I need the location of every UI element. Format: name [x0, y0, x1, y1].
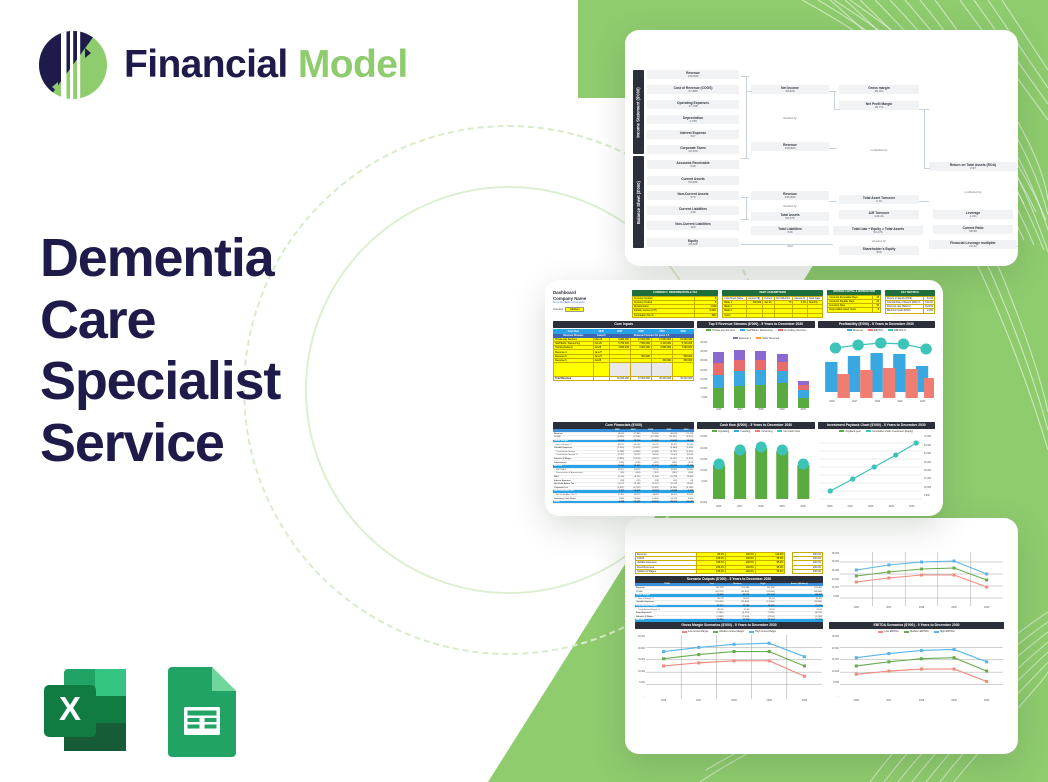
y-axis: 25,000 20,000 15,000 10,000 5,000 - (5,0…: [697, 435, 708, 505]
panel-profitability: Profitability ($'000) - 5 Years to Decem…: [818, 321, 935, 419]
table-of-contents-link[interactable]: Go to the Table of Contents: [553, 301, 628, 304]
dupont-node: Equity49,626: [647, 238, 739, 247]
legend-item: High EBITDA: [934, 630, 955, 633]
dupont-node: Leverage1.0%: [933, 210, 1013, 219]
x-axis-labels: 2026 2027 2028 2029 2030: [820, 505, 922, 513]
dupont-node: Return on Total Assets (ROA)0.97: [929, 162, 1017, 171]
chart-revenue-scenarios: 35,000 30,000 25,000 20,000 15,000 5,000…: [829, 552, 1004, 614]
table-row: Corporation Tax %30%: [632, 313, 717, 317]
table-row: Discount rate (WACC)10.00%: [886, 305, 935, 309]
panel-investment-payback: Investment Payback Chart ($'000) - 5 Yea…: [818, 422, 935, 516]
microsoft-excel-icon[interactable]: X: [38, 663, 132, 757]
chart-cash-flow: 25,000 20,000 15,000 10,000 5,000 - (5,0…: [697, 435, 814, 513]
legend-item: Low Gross Margin: [682, 630, 708, 633]
x-axis-labels: 2026 2027 2028 2029 2030: [646, 699, 822, 707]
y-axis: 35,000 30,000 25,000 20,000 15,000 5,000…: [829, 552, 840, 606]
dupont-operator: divided by: [751, 204, 829, 208]
plot-area: [708, 435, 813, 505]
dupont-spine-income-statement: Income Statement ($'000): [633, 70, 644, 154]
legend-item: Financing: [755, 430, 772, 433]
scenario-outputs-table: $'000 Low Medium High Active (Medium) Re…: [635, 583, 823, 627]
dupont-node: Gross margin65.0%: [839, 85, 919, 94]
panel-title-core-financials: Core Financials ($'000): [553, 422, 694, 429]
legend-item: Cumulative Cash Investment (Equity): [866, 430, 913, 433]
scenario-label: Scenario: [553, 308, 563, 311]
currency-assumptions-table[interactable]: Currency Symbol$ Currency Ordinal$ Denom…: [632, 296, 718, 318]
dupont-node: Depreciation1,765: [647, 115, 739, 124]
panel-revenue-streams: Top 5 Revenue Streams ($'000) - 5 Years …: [697, 321, 814, 419]
dupont-operator: multiplied by: [839, 148, 919, 152]
legend-item: Medium EBITDA: [904, 630, 929, 633]
dupont-node: Accounts Receivable948: [647, 160, 739, 169]
dupont-node: Financial Leverage multiplier62.22: [929, 240, 1017, 249]
plot-area: [708, 342, 813, 408]
dupont-node: Shareholder's Equity800: [839, 246, 919, 255]
screenshot-scenario-dashboard[interactable]: Revenue 80.0% 100.0% 120.0% 100.0% COGS …: [625, 518, 1018, 754]
brand-logo[interactable]: Financial Model: [36, 28, 408, 102]
dupont-operator: divided by: [751, 116, 829, 120]
panel-cash-flow: Cash flow ($'000) - 5 Years to December …: [697, 422, 814, 516]
dupont-node: Total Assets50,576: [751, 212, 829, 221]
legend-item: High Gross Margin: [749, 630, 776, 633]
dupont-operator: Add: [751, 244, 829, 248]
y-axis: 35,000 30,000 25,000 20,000 15,000 10,00…: [697, 342, 708, 408]
financial-model-circle-bars-logo: [36, 28, 110, 102]
dupont-node: Total Liabilities549: [751, 226, 829, 235]
dupont-tree-diagram: Income Statement ($'000) Balance Sheet (…: [633, 68, 1012, 248]
dupont-node: Revenue136,800: [647, 70, 739, 79]
panel-core-inputs: Core Inputs Cash flow 2026 2027 2028 202…: [553, 321, 694, 419]
legend-item: Operating: [712, 430, 729, 433]
legend-item: Revenue 4: [733, 337, 751, 340]
panel-ebitda-scenarios: EBITDA Scenarios ($'000) - 5 Years to De…: [829, 622, 1004, 707]
legend-item: Medium Gross Margin: [713, 630, 744, 633]
legend-item: Net Cash Flow: [777, 430, 800, 433]
legend-item: EBITDA: [868, 329, 883, 332]
chart-legend-revenue-streams: Private-pay Services Staff Bank / Resour…: [697, 328, 814, 342]
dupont-node: Total Asset Turnover2.70: [839, 195, 919, 204]
scenario-select[interactable]: Medium: [565, 307, 584, 312]
dupont-node: Revenue136,800: [751, 142, 829, 151]
legend-item: Payback year: [839, 430, 860, 433]
dupont-operator: divided by: [839, 239, 919, 243]
plot-area: [821, 334, 934, 400]
key-metrics-table: Return on Equity (ROE)61.03 Internal Rat…: [885, 296, 935, 314]
dupont-node: Non-Current Assets570: [647, 191, 739, 200]
logo-text-model: Model: [298, 43, 408, 86]
y-axis: 25,000 20,000 15,000 10,000 5,000 -: [635, 635, 646, 699]
dupont-node: A/R Turnover144.24: [839, 210, 919, 219]
table-row: Cash8,44420,50034,10048,00056,100: [553, 500, 694, 504]
title-line-3: Specialist: [40, 351, 280, 413]
x-axis-labels: 2026 2027 2028 2029 2030: [840, 699, 1003, 707]
title-line-2: Care: [40, 290, 280, 352]
page-title: Dementia Care Specialist Service: [40, 228, 280, 474]
table-row: [554, 363, 694, 377]
dupont-node: Interest Expense537: [647, 130, 739, 139]
legend-item: Low EBITDA: [878, 630, 899, 633]
plot-area: [840, 635, 1003, 699]
legend-item: Revenue: [847, 329, 863, 332]
chart-title-revenue-streams: Top 5 Revenue Streams ($'000) - 5 Years …: [697, 321, 814, 328]
chart-profitability: 2026 2027 2028 2029 2030: [818, 334, 935, 408]
y-axis-right: 72,000 63,000 54,000 45,000 36,000 27,00…: [923, 435, 935, 505]
table-row: Total Revenue 16,200,00027,900,000 30,20…: [554, 377, 694, 381]
table-row: Return on Equity (ROE)61.03: [886, 296, 935, 300]
dupont-node: Net Profit Margin35.7%: [839, 101, 919, 110]
x-axis-labels: 2026 2027 2028 2029 2030: [840, 606, 1003, 614]
legend-item: Consulting Services: [778, 329, 806, 332]
dupont-operator: multiplied by: [929, 190, 1017, 194]
dupont-node: Cost of Revenue (COGS)47,880: [647, 85, 739, 94]
dupont-node: Net Income48,828: [751, 85, 829, 94]
table-row: Grant: [723, 313, 823, 317]
screenshot-dupont-ratio-tree[interactable]: Income Statement ($'000) Balance Sheet (…: [625, 30, 1018, 266]
left-content-column: Financial Model Dementia Care Specialist…: [0, 0, 470, 782]
dupont-spine-balance-sheet: Balance Sheet ($'000): [633, 156, 644, 248]
chart-title-gross-margin: Gross Margin Scenarios ($'000) - 5 Years…: [635, 622, 823, 629]
table-row: Depreciation Asset Years5: [828, 308, 881, 312]
plot-area: [820, 435, 922, 505]
dupont-node: Revenue136,800: [751, 191, 829, 200]
legend-item: Other Revenue: [756, 337, 779, 340]
chart-gross-margin-scenarios: 25,000 20,000 15,000 10,000 5,000 -: [635, 635, 823, 707]
panel-title: Core Inputs: [553, 321, 694, 328]
legend-item: Staff Bank / Resourcing: [740, 329, 772, 332]
panel-core-financials: Core Financials ($'000) 2026 2027 2028 2…: [553, 422, 694, 516]
screenshot-main-dashboard[interactable]: Dashboard Company Name Go to the Table o…: [545, 280, 943, 516]
dupont-node: Current Assets50,006: [647, 176, 739, 185]
y-axis: 25,000 20,000 15,000 10,000 5,000 -: [829, 635, 840, 699]
chart-title-profitability: Profitability ($'000) - 5 Years to Decem…: [818, 321, 935, 328]
supported-formats: X: [38, 663, 240, 757]
dupont-node: Operating Expenses17,758: [647, 100, 739, 109]
dupont-node: Current Ratio58.98: [933, 225, 1013, 234]
dupont-node: Total Liab + Equity = Total Assets50,176: [833, 226, 923, 235]
legend-item: Investing: [734, 430, 750, 433]
core-inputs-table[interactable]: Cash flow 2026 2027 2028 2029 2030 Reven…: [553, 329, 694, 382]
scenario-inputs-table[interactable]: Revenue 80.0% 100.0% 120.0% 100.0% COGS …: [635, 552, 823, 574]
legend-item: Private-pay Services: [706, 329, 735, 332]
chart-payback: 72,000 63,000 54,000 45,000 36,000 27,00…: [818, 435, 935, 513]
title-line-4: Service: [40, 413, 280, 475]
chart-ebitda-scenarios: 25,000 20,000 15,000 10,000 5,000 -: [829, 635, 1004, 707]
table-row: Minimum Cash (DSO)2.25x: [886, 309, 935, 313]
table-row: Internal Rate of Return (IRR) %744.6%: [886, 300, 935, 304]
plot-area: [646, 635, 822, 699]
x-axis-labels: 2026 2027 2028 2029 2030: [821, 400, 934, 408]
legend-item: EBITDA %: [888, 329, 906, 332]
plot-area: [840, 552, 1003, 606]
dupont-node: Non-Current Liabilities100: [647, 221, 739, 230]
core-financials-table: 2026 2027 2028 2029 2030 Revenue16,20027…: [553, 429, 694, 505]
table-row: Salaries & Wages 105.0% 100.0% 95.0% 100…: [636, 569, 823, 573]
dupont-node: Corporate Taxes20,626: [647, 145, 739, 154]
chart-revenue-streams: 35,000 30,000 25,000 20,000 15,000 10,00…: [697, 342, 814, 416]
debt-assumptions-table[interactable]: Loan/Grant NameAmount ($) CurrentTerm/Mo…: [722, 296, 823, 318]
dupont-node: Current Liabilities449: [647, 206, 739, 215]
working-capital-table[interactable]: Accounts Receivable Days15 Accounts Paya…: [827, 295, 881, 313]
panel-title-scenario-outputs: Scenario Outputs ($'000) - 5 Years to De…: [635, 576, 823, 583]
google-sheets-icon[interactable]: [164, 663, 240, 757]
logo-text-financial: Financial: [124, 43, 288, 86]
chart-title-ebitda: EBITDA Scenarios ($'000) - 5 Years to De…: [829, 622, 1004, 629]
x-axis-labels: 2026 2027 2028 2029 2030: [708, 408, 813, 416]
chart-title-payback: Investment Payback Chart ($'000) - 5 Yea…: [818, 422, 935, 429]
x-axis-labels: 2026 2027 2028 2029 2030: [708, 505, 813, 513]
panel-gross-margin-scenarios: Gross Margin Scenarios ($'000) - 5 Years…: [635, 622, 823, 707]
title-line-1: Dementia: [40, 228, 280, 290]
chart-title-cash-flow: Cash flow ($'000) - 5 Years to December …: [697, 422, 814, 429]
svg-text:X: X: [59, 690, 81, 727]
